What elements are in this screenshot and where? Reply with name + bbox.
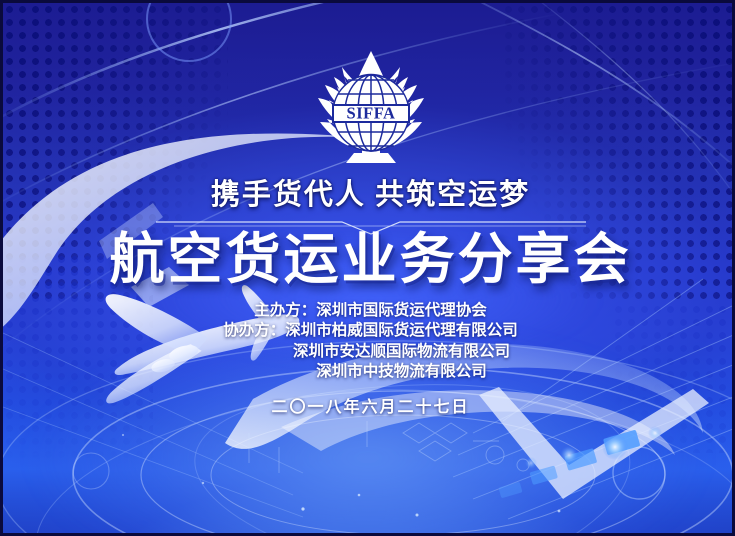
siffa-logo: SIFFA	[310, 49, 432, 173]
siffa-acronym: SIFFA	[346, 104, 395, 123]
poster-main-title: 航空货运业务分享会	[3, 231, 735, 287]
organizer-block: 主办方：深圳市国际货运代理协会 协办方：深圳市柏威国际货运代理有限公司 深圳市安…	[3, 301, 735, 383]
poster-subtitle: 携手货代人 共筑空运梦	[3, 171, 735, 213]
organizer-line-cohost-2: 深圳市安达顺国际物流有限公司	[3, 342, 735, 362]
event-poster: SIFFA 携手货代人 共筑空运梦 航空货运业务分享会 主办方：深圳市国际货运代…	[0, 0, 735, 536]
event-date: 二〇一八年六月二十七日	[3, 393, 735, 417]
organizer-line-host: 主办方：深圳市国际货运代理协会	[3, 301, 735, 321]
organizer-line-cohost: 协办方：深圳市柏威国际货运代理有限公司	[3, 321, 735, 341]
organizer-line-cohost-3: 深圳市中技物流有限公司	[3, 362, 735, 382]
